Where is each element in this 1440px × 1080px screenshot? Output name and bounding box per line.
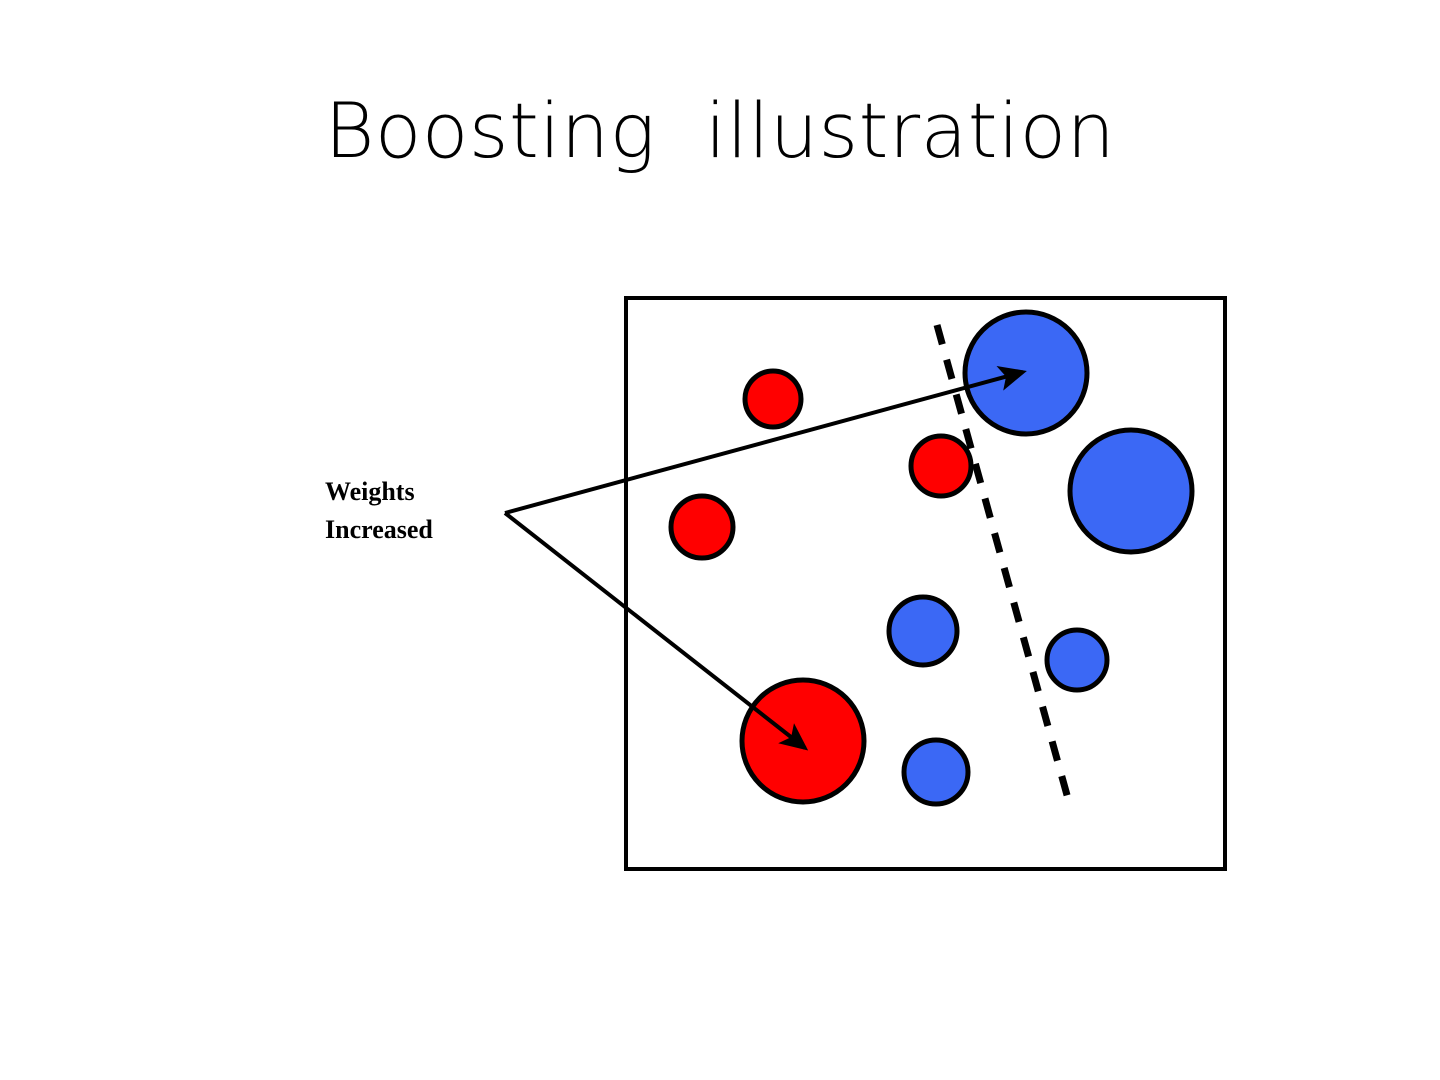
data-point-red-4[interactable]: [742, 680, 864, 802]
data-point-blue-2[interactable]: [1070, 430, 1192, 552]
data-point-blue-5[interactable]: [904, 740, 968, 804]
data-point-red-3[interactable]: [911, 436, 971, 496]
boosting-diagram: [0, 0, 1440, 1080]
data-point-blue-1[interactable]: [965, 312, 1087, 434]
data-point-red-1[interactable]: [745, 371, 801, 427]
slide-canvas: Boosting illustration Weights Increased: [0, 0, 1440, 1080]
data-point-blue-3[interactable]: [889, 597, 957, 665]
data-point-red-2[interactable]: [671, 496, 733, 558]
data-point-blue-4[interactable]: [1047, 630, 1107, 690]
